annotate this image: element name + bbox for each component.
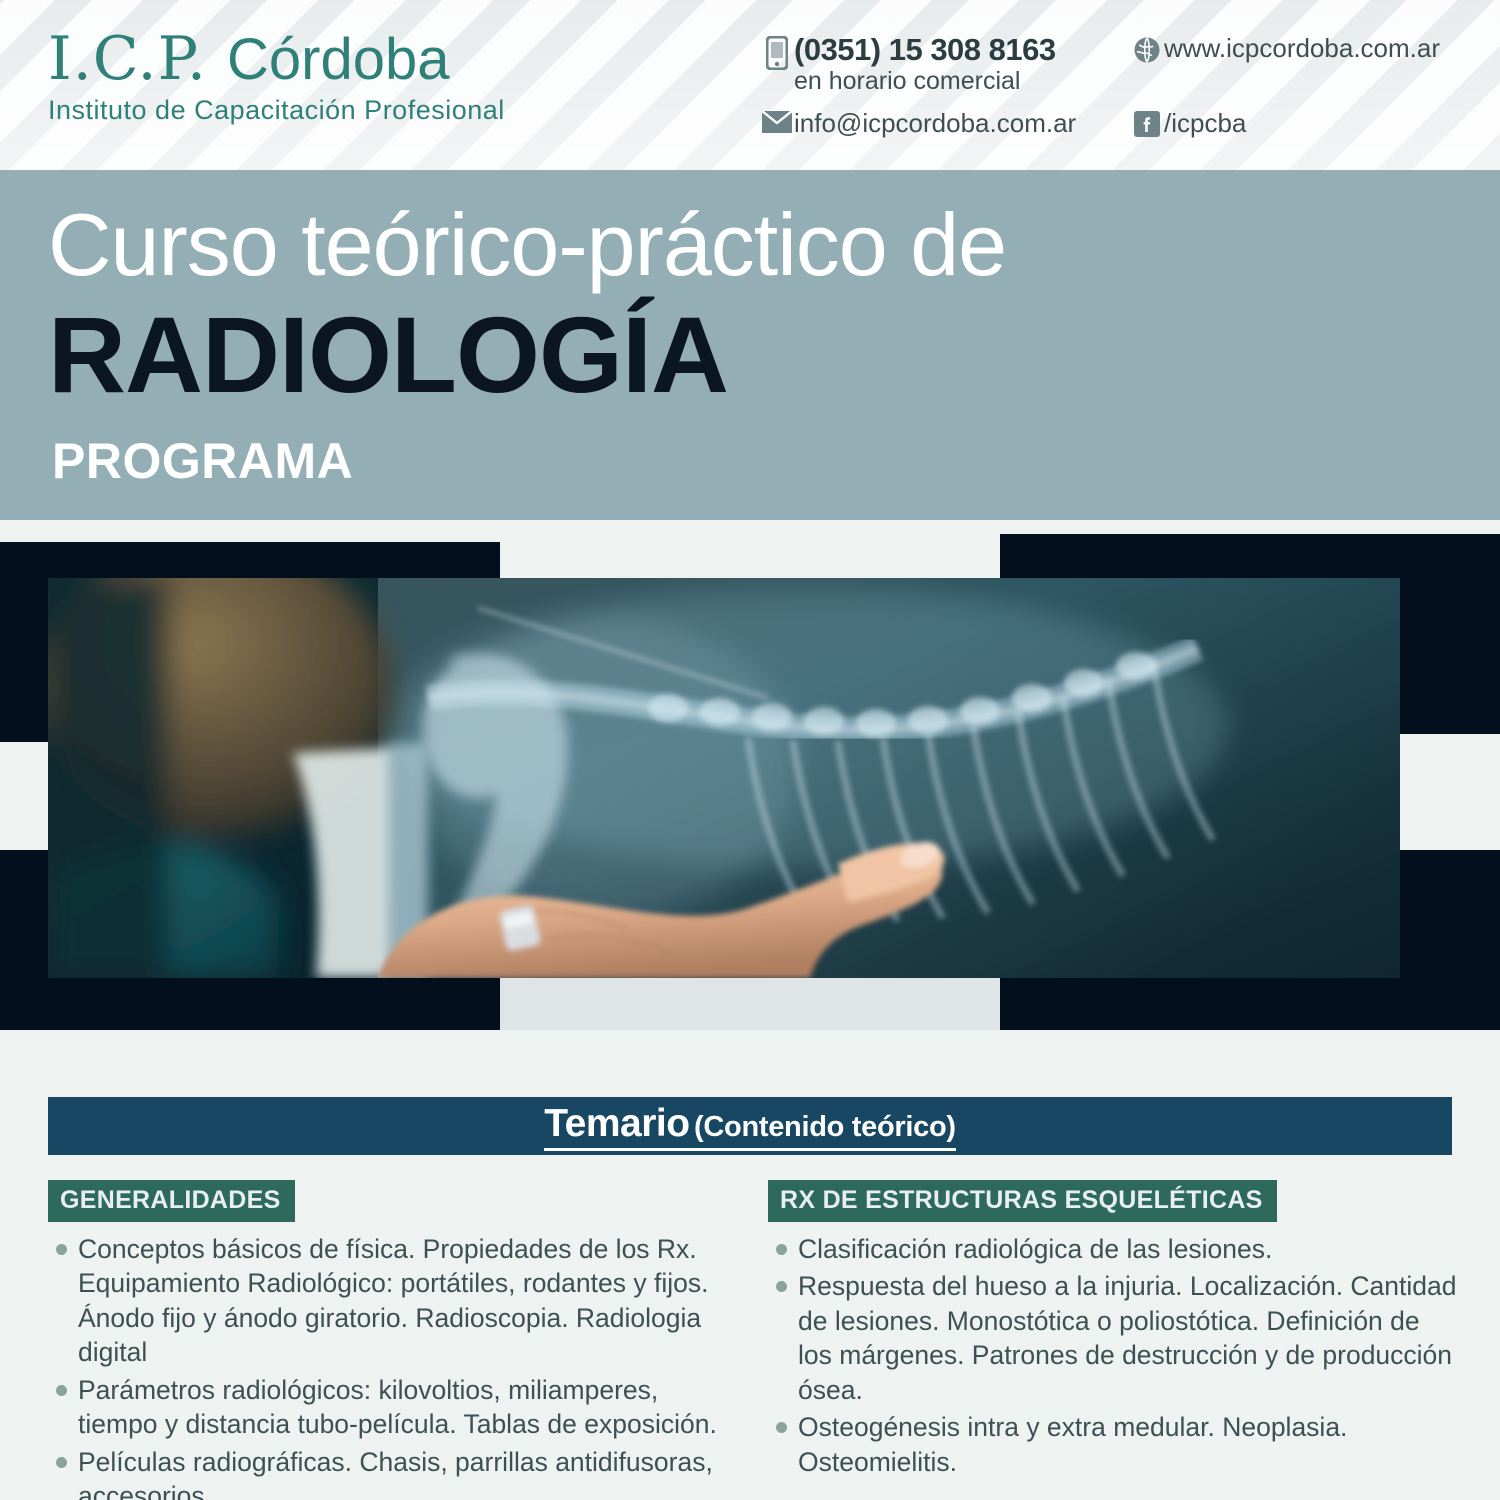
course-section-label: PROGRAMA [52, 432, 353, 490]
list-item: Osteogénesis intra y extra medular. Neop… [768, 1410, 1458, 1479]
phone-text: (0351) 15 308 8163 en horario comercial [794, 34, 1056, 95]
contact-row-top: (0351) 15 308 8163 en horario comercial … [760, 34, 1480, 95]
list-item: Clasificación radiológica de las lesione… [768, 1232, 1458, 1266]
photo-block [0, 520, 1500, 1040]
photo-illustration [48, 578, 1400, 978]
list-item: Películas radiográficas. Chasis, parrill… [48, 1445, 738, 1500]
content-columns: GENERALIDADES Conceptos básicos de físic… [48, 1180, 1458, 1500]
column-right: RX DE ESTRUCTURAS ESQUELÉTICAS Clasifica… [768, 1180, 1458, 1500]
column-left: GENERALIDADES Conceptos básicos de físic… [48, 1180, 738, 1500]
logo-title: I.C.P. Córdoba [48, 28, 505, 91]
envelope-icon [760, 109, 794, 133]
list-rx-estructuras: Clasificación radiológica de las lesione… [768, 1232, 1458, 1479]
website-group[interactable]: www.icpcordoba.com.ar [1130, 34, 1440, 64]
radiography-photo [48, 578, 1400, 978]
email-group[interactable]: info@icpcordoba.com.ar [760, 109, 1130, 138]
temario-heading: Temario (Contenido teórico) [544, 1102, 956, 1151]
temario-bar: Temario (Contenido teórico) [48, 1097, 1452, 1155]
contact-block: (0351) 15 308 8163 en horario comercial … [760, 34, 1480, 152]
logo-city: Córdoba [227, 27, 449, 92]
facebook-group[interactable]: /icpcba [1130, 109, 1246, 138]
globe-icon [1130, 34, 1164, 64]
mobile-phone-icon [760, 34, 794, 70]
section-badge-generalidades: GENERALIDADES [48, 1180, 295, 1222]
temario-subtitle: (Contenido teórico) [694, 1111, 956, 1143]
column-gap [768, 1482, 1458, 1500]
logo: I.C.P. Córdoba Instituto de Capacitación… [48, 28, 505, 126]
contact-row-bottom: info@icpcordoba.com.ar /icpcba [760, 109, 1480, 138]
page-header: I.C.P. Córdoba Instituto de Capacitación… [0, 0, 1500, 170]
list-generalidades: Conceptos básicos de física. Propiedades… [48, 1232, 738, 1500]
list-item: Conceptos básicos de física. Propiedades… [48, 1232, 738, 1370]
facebook-icon [1130, 109, 1164, 137]
phone-number: (0351) 15 308 8163 [794, 32, 1056, 67]
logo-subtitle: Instituto de Capacitación Profesional [48, 95, 505, 126]
list-item: Respuesta del hueso a la injuria. Locali… [768, 1269, 1458, 1407]
facebook-text: /icpcba [1164, 109, 1246, 138]
course-kicker: Curso teórico-práctico de [48, 194, 1006, 296]
phone-note: en horario comercial [794, 67, 1021, 95]
temario-title: Temario [544, 1102, 689, 1145]
logo-initials: I.C.P. [48, 24, 207, 94]
email-text: info@icpcordoba.com.ar [794, 109, 1076, 138]
list-item: Parámetros radiológicos: kilovoltios, mi… [48, 1373, 738, 1442]
title-band: Curso teórico-práctico de RADIOLOGÍA PRO… [0, 170, 1500, 520]
phone-group[interactable]: (0351) 15 308 8163 en horario comercial [760, 34, 1130, 95]
course-title: RADIOLOGÍA [48, 292, 728, 417]
section-badge-rx-estructuras: RX DE ESTRUCTURAS ESQUELÉTICAS [768, 1180, 1277, 1222]
website-text: www.icpcordoba.com.ar [1164, 34, 1440, 63]
